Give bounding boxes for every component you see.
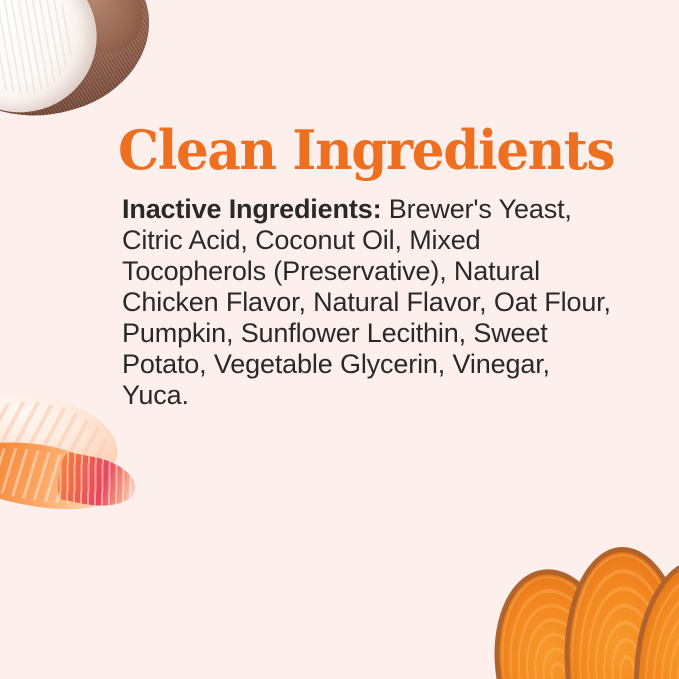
inactive-ingredients-label: Inactive Ingredients: [122,194,381,224]
shrimp-tail-fan [54,451,140,513]
coconut-flesh [0,0,114,130]
inactive-ingredients-paragraph: Inactive Ingredients: Brewer's Yeast, Ci… [122,194,614,411]
shrimp-body-front [0,431,122,519]
inactive-ingredients-list: Brewer's Yeast, Citric Acid, Coconut Oil… [122,194,611,410]
page-title: Clean Ingredients [118,120,596,180]
clean-ingredients-card: Clean Ingredients Inactive Ingredients: … [0,0,679,679]
shrimp-tails-image [0,396,138,542]
shrimp-body-back [0,381,127,489]
text-content: Clean Ingredients Inactive Ingredients: … [118,120,618,411]
sweet-potato-slice [481,560,625,679]
sweet-potato-slice [632,555,679,679]
sweet-potato-slices-image [491,531,679,679]
sweet-potato-slice [559,544,679,679]
